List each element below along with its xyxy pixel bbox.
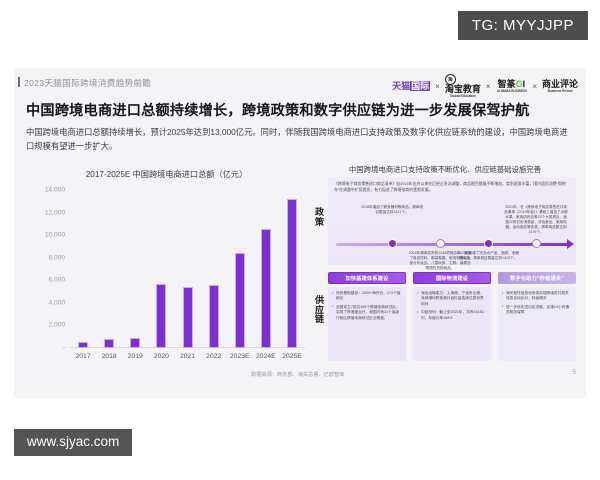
timeline-arrow-icon: [567, 239, 574, 249]
chart-y-tick: 4,000: [48, 299, 65, 306]
logo-separator: ×: [486, 82, 491, 91]
policy-timeline-box: 《跨境电子商务零售进口商品清单》自2016年出台以来先后经过多次调整，商品税目数…: [328, 177, 576, 265]
chart-x-tick: 2023E: [230, 353, 250, 360]
tg-watermark-badge: TG: MYYJJPP: [458, 11, 588, 40]
supply-chain-bullet: 海运运输能力：上海港、宁波舟山港、深圳港均跻身港口吞吐量连续位居世界前列: [417, 291, 487, 307]
chart-y-tick: 14,000: [45, 187, 65, 194]
chart-bar: [261, 229, 271, 348]
logo-tmall-global: 天猫国际: [392, 82, 430, 91]
chart-y-tick: 12,000: [45, 209, 65, 216]
supply-chain-card-title: 加快基建体系建设: [328, 272, 406, 284]
chart-x-tick: 2017: [75, 353, 90, 360]
chart-x-tick: 2025E: [282, 353, 302, 360]
data-source-note: 数据来源：商务部、海关总署、亿欧智库: [251, 371, 344, 378]
logo-separator: ×: [435, 82, 440, 91]
chart-x-tick: 2020: [154, 353, 169, 360]
slide-page: TG: MYYJJPP 2023天猫国际跨境消费趋势前瞻 天猫国际 × 淘淘宝教…: [0, 0, 600, 480]
logo-taobao-education: 淘淘宝教育Taobao Education: [445, 74, 481, 98]
chart-bar: [104, 339, 114, 348]
timeline-node-label: 2019年新增了冻品水产品、酒类、电器等商品，清单税目数量达到1413个。: [456, 251, 520, 261]
chart-x-tick: 2024E: [256, 353, 276, 360]
timeline-node-label: 2021年，在《跨境电子商务零售进口商品清单（2019年版）》基础上增加了冰鲜水…: [504, 205, 568, 235]
chart-y-tick: 10,000: [45, 232, 65, 239]
supply-chain-card: 加快基建体系建设传统基础建设：2000+海外仓、171个保税仓全国设立7批共16…: [328, 272, 406, 364]
logo-zhizhuan-gi: 智篆GIALIBABA BUSINESS: [496, 80, 528, 93]
chart-bar: [235, 253, 245, 348]
supply-chain-section-label: 供应链: [313, 296, 326, 325]
chart-y-tick: 8,000: [48, 254, 65, 261]
timeline-node: [532, 239, 541, 248]
partner-logos: 天猫国际 × 淘淘宝教育Taobao Education × 智篆GIALIBA…: [392, 74, 578, 98]
chart-bar: [287, 199, 297, 348]
supply-chain-card: 国际物流建设海运运输能力：上海港、宁波舟山港、深圳港均跻身港口吞吐量连续位居世界…: [413, 272, 491, 364]
presentation-slide: 2023天猫国际跨境消费趋势前瞻 天猫国际 × 淘淘宝教育Taobao Educ…: [14, 68, 586, 398]
chart-bar: [130, 338, 140, 348]
chart-plot-area: -2,0004,0006,0008,00010,00012,00014,000 …: [70, 190, 305, 348]
kicker-accent-bar: [18, 77, 20, 87]
chart-x-tick: 2021: [180, 353, 195, 360]
chart-x-tick: 2019: [128, 353, 143, 360]
chart-y-tick: 2,000: [48, 322, 65, 329]
supply-chain-bullet: 海关依托信息化系统实现跨境进口报关信息自动比对，秒级通关: [502, 291, 572, 302]
timeline-node: [388, 239, 397, 248]
policy-section-label: 政策: [313, 208, 326, 227]
slide-header: 2023天猫国际跨境消费趋势前瞻 天猫国际 × 淘淘宝教育Taobao Educ…: [14, 68, 586, 98]
supply-chain-bullet: 中欧班列：截止至2021年，共有15183列，年增长率106%: [417, 310, 487, 321]
right-panel-title: 中国跨境电商进口支持政策不断优化、供应链基础设施完善: [314, 164, 576, 175]
supply-chain-card-body: 传统基础建设：2000+海外仓、171个保税仓全国设立7批共165个跨境电商综试…: [328, 287, 406, 361]
supply-chain-card-body: 海关依托信息化系统实现跨境进口报关信息自动比对，秒级通关进一步优化进出区流程，实…: [498, 287, 576, 361]
supply-chain-bullet: 全国设立7批共165个跨境电商综试区，实现了除港澳台外，我国内地31个省级行政区…: [332, 305, 402, 321]
policy-intro-text: 《跨境电子商务零售进口商品清单》自2016年出台以来先后经过多次调整，商品税目数…: [334, 181, 570, 192]
supply-chain-card-title: 国际物流建设: [413, 272, 491, 284]
chart-y-tick: -: [63, 345, 65, 352]
slide-kicker: 2023天猫国际跨境消费趋势前瞻: [24, 77, 151, 89]
supply-chain-card: 数字化助力“秒级通关”海关依托信息化系统实现跨境进口报关信息自动比对，秒级通关进…: [498, 272, 576, 364]
timeline-node-label: 2018年增加了健身器材等商品，清单税目数量达到1321个。: [360, 205, 424, 215]
timeline-node: [436, 239, 445, 248]
slide-deck-text: 中国跨境电商进口总额持续增长，预计2025年达到13,000亿元。同时，伴随我国…: [26, 126, 572, 153]
supply-chain-bullet: 传统基础建设：2000+海外仓、171个保税仓: [332, 291, 402, 302]
site-watermark-badge: www.sjyac.com: [14, 429, 132, 456]
supply-chain-card-body: 海运运输能力：上海港、宁波舟山港、深圳港均跻身港口吞吐量连续位居世界前列中欧班列…: [413, 287, 491, 361]
chart-x-tick: 2022: [206, 353, 221, 360]
chart-bar: [183, 287, 193, 349]
chart-x-tick: 2018: [102, 353, 117, 360]
logo-business-review: 商业评论Business Review: [542, 80, 578, 93]
policy-supply-panel: 中国跨境电商进口支持政策不断优化、供应链基础设施完善 政策 供应链 《跨境电子商…: [314, 164, 576, 369]
chart-title: 2017-2025E 中国跨境电商进口总额（亿元）: [24, 168, 309, 180]
logo-separator: ×: [532, 82, 537, 91]
supply-chain-card-title: 数字化助力“秒级通关”: [498, 272, 576, 284]
import-total-bar-chart: 2017-2025E 中国跨境电商进口总额（亿元） -2,0004,0006,0…: [24, 168, 309, 368]
supply-chain-cards: 加快基建体系建设传统基础建设：2000+海外仓、171个保税仓全国设立7批共16…: [328, 272, 576, 364]
timeline-node: [484, 239, 493, 248]
chart-bar: [156, 284, 166, 348]
chart-bar: [78, 342, 88, 348]
chart-y-tick: 6,000: [48, 277, 65, 284]
chart-bar: [209, 285, 219, 348]
supply-chain-bullet: 进一步优化进出区流程，实施24小时通关服务保障: [502, 305, 572, 316]
slide-headline: 中国跨境电商进口总额持续增长，跨境政策和数字供应链为进一步发展保驾护航: [26, 100, 530, 120]
slide-page-number: 5: [573, 370, 576, 376]
